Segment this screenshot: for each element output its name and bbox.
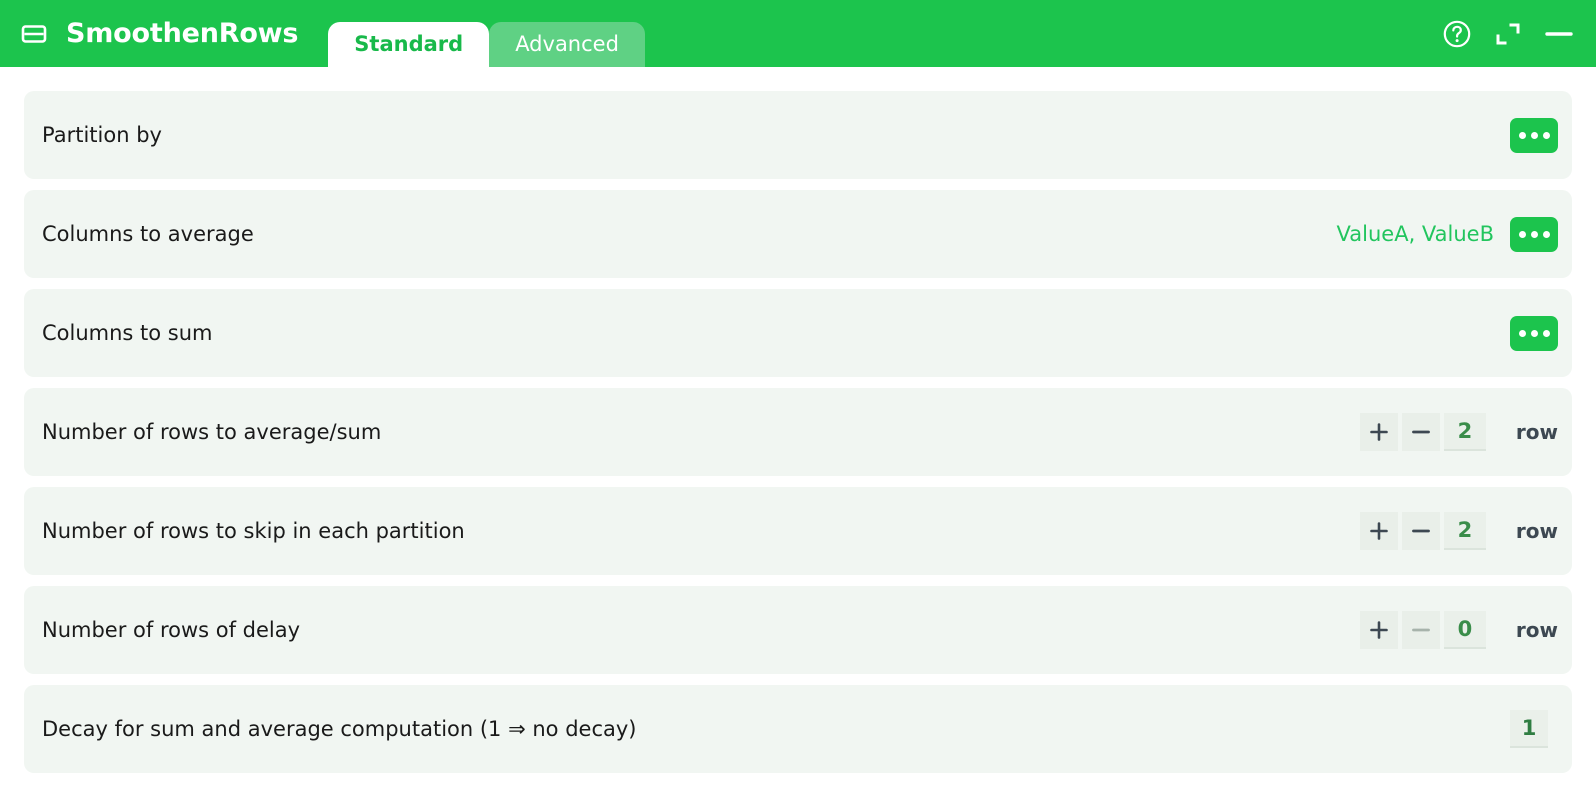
- minus-icon: [1410, 421, 1432, 443]
- help-circle-icon[interactable]: [1442, 19, 1472, 49]
- row-label: Partition by: [42, 123, 1494, 147]
- dot-icon: [1519, 132, 1526, 139]
- hamburger-panel-glyph: [21, 24, 47, 44]
- row-label: Number of rows to skip in each partition: [42, 519, 1360, 543]
- decrement-button[interactable]: [1402, 413, 1440, 451]
- decay-value-input[interactable]: 1: [1510, 710, 1548, 748]
- stepper-value[interactable]: 2: [1444, 413, 1486, 451]
- setting-row-columns-to-average: Columns to average ValueA, ValueB: [24, 190, 1572, 278]
- row-controls: 2 row: [1360, 413, 1558, 451]
- setting-row-columns-to-sum: Columns to sum: [24, 289, 1572, 377]
- stepper: 2: [1360, 512, 1486, 550]
- dot-icon: [1519, 231, 1526, 238]
- dot-icon: [1531, 330, 1538, 337]
- unit-label: row: [1516, 420, 1558, 444]
- ellipsis-button[interactable]: [1510, 217, 1558, 252]
- increment-button[interactable]: [1360, 611, 1398, 649]
- setting-row-rows-of-delay: Number of rows of delay 0 row: [24, 586, 1572, 674]
- tab-standard[interactable]: Standard: [328, 22, 489, 67]
- expand-icon[interactable]: [1494, 20, 1522, 48]
- row-value: ValueA, ValueB: [1337, 222, 1494, 246]
- setting-row-rows-to-average-sum: Number of rows to average/sum 2 row: [24, 388, 1572, 476]
- ellipsis-button[interactable]: [1510, 316, 1558, 351]
- increment-button[interactable]: [1360, 413, 1398, 451]
- row-controls: [1494, 118, 1558, 153]
- minimize-glyph: [1544, 20, 1574, 48]
- minus-icon: [1410, 520, 1432, 542]
- unit-label: row: [1516, 519, 1558, 543]
- plus-icon: [1368, 520, 1390, 542]
- app-title: SmoothenRows: [66, 18, 298, 49]
- minimize-icon[interactable]: [1544, 20, 1574, 48]
- plus-icon: [1368, 619, 1390, 641]
- dot-icon: [1519, 330, 1526, 337]
- dot-icon: [1543, 330, 1550, 337]
- setting-row-rows-to-skip: Number of rows to skip in each partition…: [24, 487, 1572, 575]
- minus-icon: [1410, 619, 1432, 641]
- tab-advanced[interactable]: Advanced: [489, 22, 645, 67]
- dot-icon: [1543, 231, 1550, 238]
- dot-icon: [1531, 132, 1538, 139]
- stepper-value[interactable]: 0: [1444, 611, 1486, 649]
- decrement-button[interactable]: [1402, 512, 1440, 550]
- row-label: Columns to sum: [42, 321, 1494, 345]
- increment-button[interactable]: [1360, 512, 1398, 550]
- plus-icon: [1368, 421, 1390, 443]
- stepper: 0: [1360, 611, 1486, 649]
- stepper-value[interactable]: 2: [1444, 512, 1486, 550]
- row-controls: 2 row: [1360, 512, 1558, 550]
- help-circle-glyph: [1442, 19, 1472, 49]
- settings-list: Partition by Columns to average ValueA, …: [0, 67, 1596, 773]
- setting-row-partition-by: Partition by: [24, 91, 1572, 179]
- dot-icon: [1543, 132, 1550, 139]
- unit-label: row: [1516, 618, 1558, 642]
- row-controls: 0 row: [1360, 611, 1558, 649]
- row-controls: 1: [1510, 710, 1558, 748]
- header-left-group: SmoothenRows: [0, 0, 298, 67]
- row-label: Columns to average: [42, 222, 1337, 246]
- row-label: Number of rows of delay: [42, 618, 1360, 642]
- tab-bar: Standard Advanced: [328, 0, 1442, 67]
- row-label: Decay for sum and average computation (1…: [42, 717, 1510, 741]
- setting-row-decay: Decay for sum and average computation (1…: [24, 685, 1572, 773]
- row-controls: [1494, 316, 1558, 351]
- window-controls: [1442, 0, 1596, 67]
- expand-glyph: [1494, 20, 1522, 48]
- hamburger-panel-icon[interactable]: [20, 20, 48, 48]
- ellipsis-button[interactable]: [1510, 118, 1558, 153]
- dot-icon: [1531, 231, 1538, 238]
- row-controls: ValueA, ValueB: [1337, 217, 1558, 252]
- stepper: 2: [1360, 413, 1486, 451]
- app-header: SmoothenRows Standard Advanced: [0, 0, 1596, 67]
- decrement-button[interactable]: [1402, 611, 1440, 649]
- row-label: Number of rows to average/sum: [42, 420, 1360, 444]
